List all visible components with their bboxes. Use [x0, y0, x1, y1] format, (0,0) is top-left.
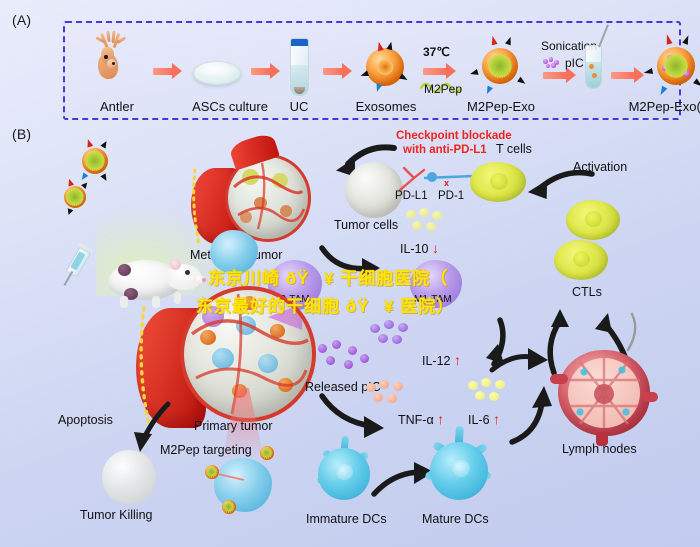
label-m2pep-targeting: M2Pep targeting — [160, 443, 252, 457]
membrane-protein-icon — [693, 78, 700, 88]
arrow-cytokines-to-lymph — [488, 344, 558, 384]
panel-a-label-uc: UC — [277, 99, 321, 114]
panel-a-label-m2pepexo: M2Pep-Exo — [453, 99, 549, 114]
il10-text: IL-10 — [400, 242, 429, 256]
lymph-node-icon — [550, 348, 658, 444]
label-tumor-killing: Tumor Killing — [80, 508, 152, 522]
exosome-particle-icon — [218, 496, 240, 518]
tnf-alpha-text: TNF-α — [398, 413, 434, 427]
apoptotic-tumor-cell-icon — [102, 450, 156, 504]
label-pd-1: PD-1 — [438, 190, 464, 202]
label-il10: IL-10 ↓ — [400, 240, 439, 256]
peptide-exosome-icon — [469, 35, 531, 97]
membrane-protein-icon — [505, 36, 513, 46]
tnf-up-arrow: ↑ — [437, 411, 444, 427]
label-pd-l1: PD-L1 — [395, 190, 428, 202]
svg-text:x: x — [444, 178, 449, 188]
membrane-protein-icon — [374, 83, 382, 92]
ctl-cell-icon — [554, 240, 608, 280]
il12-cytokine-icon — [370, 320, 418, 350]
membrane-protein-icon — [65, 208, 73, 216]
il6-text: IL-6 — [468, 413, 490, 427]
panel-b: Metastatic tumor Tumor cells Checkpoint … — [18, 130, 684, 533]
label-lymph-nodes: Lymph nodes — [562, 442, 637, 456]
panel-a: Antler ASCs culture UC Exosomes 37℃ — [63, 21, 681, 120]
label-ctls: CTLs — [572, 285, 602, 299]
centrifuge-tube-icon — [290, 38, 309, 96]
temperature-label: 37℃ — [423, 45, 450, 59]
deer-icon — [87, 31, 147, 97]
membrane-protein-icon — [517, 77, 527, 87]
label-primary-tumor: Primary tumor — [194, 419, 272, 433]
il10-down-arrow: ↓ — [432, 240, 439, 256]
exosome-icon — [359, 41, 411, 93]
m2pep-label: M2Pep — [415, 82, 471, 96]
membrane-protein-icon — [484, 86, 493, 96]
ctl-cell-icon — [566, 200, 620, 240]
label-mature-dcs: Mature DCs — [422, 512, 489, 526]
label-checkpoint-line2: with anti-PD-L1 — [403, 144, 487, 157]
membrane-protein-icon — [100, 140, 109, 149]
membrane-protein-icon — [664, 33, 673, 44]
label-tumor-cells: Tumor cells — [334, 218, 398, 232]
membrane-protein-icon — [643, 68, 653, 76]
panel-a-label-m2pepexopic: M2Pep-Exo(pIC) — [613, 99, 700, 114]
released-pic-icon — [318, 340, 374, 380]
exosome-particle-icon — [56, 178, 94, 216]
exosome-particle-icon — [72, 138, 118, 184]
label-checkpoint-line1: Checkpoint blockade — [396, 130, 512, 143]
immature-dc-icon — [318, 448, 370, 500]
membrane-protein-icon — [399, 73, 409, 82]
membrane-protein-icon — [682, 34, 691, 45]
sonication-probe-icon — [598, 24, 609, 47]
membrane-protein-icon — [489, 35, 497, 45]
membrane-protein-icon — [359, 70, 369, 78]
arrow-lymph-to-ctl — [588, 308, 648, 356]
membrane-protein-icon — [85, 138, 93, 147]
pic-molecule-icon — [543, 57, 561, 69]
targeting-link — [214, 462, 254, 488]
watermark-line-1: 东京川崎 ðŸ¥ 干细胞医院（ — [208, 264, 448, 290]
label-il12: IL-12 ↑ — [422, 352, 461, 368]
petri-dish-icon — [193, 61, 241, 85]
panel-a-tag: (A) — [12, 12, 31, 28]
exosome-particle-icon — [256, 442, 278, 464]
pic-label: pIC — [565, 56, 584, 70]
panel-a-label-antler: Antler — [77, 99, 157, 114]
label-immature-dcs: Immature DCs — [306, 512, 387, 526]
mature-dc-icon — [430, 442, 488, 500]
membrane-protein-icon — [100, 173, 109, 182]
label-tnf-alpha: TNF-α ↑ — [398, 411, 444, 427]
il10-cytokine-icon — [404, 208, 448, 238]
panel-a-label-exosomes: Exosomes — [343, 99, 429, 114]
label-t-cells: T cells — [496, 142, 532, 156]
sonication-tube-icon — [585, 45, 602, 89]
membrane-protein-icon — [469, 69, 478, 77]
pic-loaded-exosome-icon — [643, 33, 700, 99]
label-apoptosis: Apoptosis — [58, 413, 113, 427]
panel-a-label-ascs: ASCs culture — [175, 99, 285, 114]
figure-canvas: (A) Antler ASCs culture — [0, 0, 700, 547]
watermark-line-2: 东京最好的干细胞 ðŸ¥ 医院） — [196, 292, 454, 318]
label-activation: Activation — [573, 160, 627, 174]
label-il6: IL-6 ↑ — [468, 411, 500, 427]
il12-text: IL-12 — [422, 354, 451, 368]
il6-up-arrow: ↑ — [493, 411, 500, 427]
membrane-protein-icon — [657, 86, 667, 97]
tnf-alpha-cytokine-icon — [366, 380, 412, 408]
